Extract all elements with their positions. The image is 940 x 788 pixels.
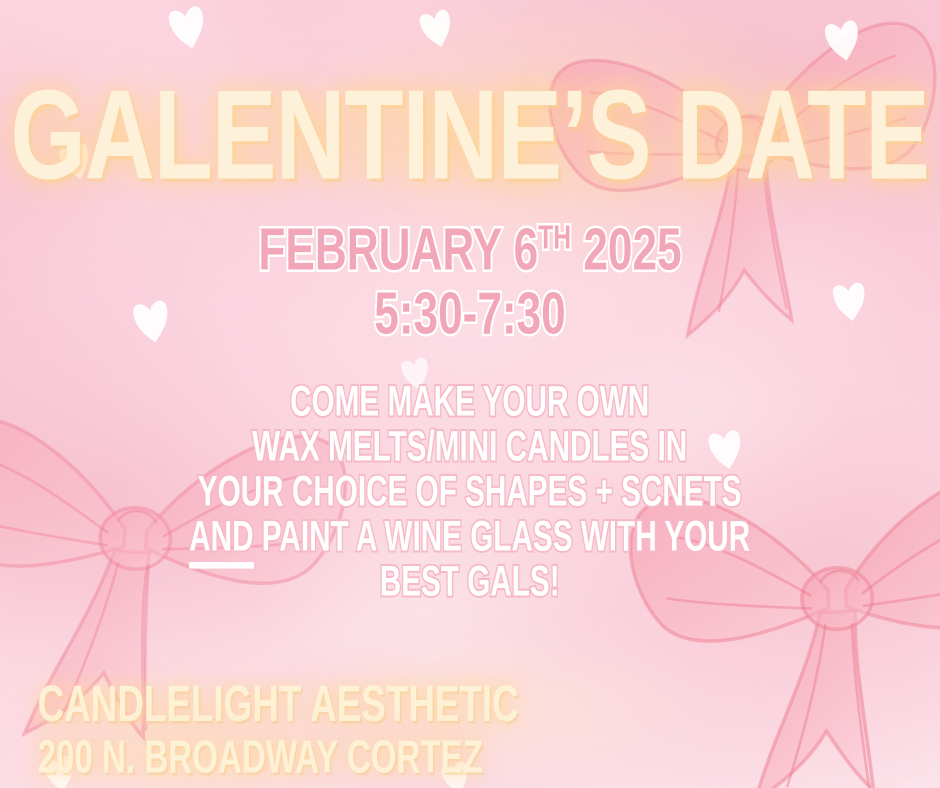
venue-address: 200 N. BROADWAY CORTEZ (38, 734, 903, 780)
venue-block: CANDLELIGHT AESTHETIC 200 N. BROADWAY CO… (0, 690, 940, 780)
description-line-5: BEST GALS! (189, 559, 750, 602)
event-month-day: FEBRUARY 6 (258, 217, 538, 283)
description-line-2: WAX MELTS/MINI CANDLES IN (189, 424, 750, 467)
event-description-block: COME MAKE YOUR OWN WAX MELTS/MINI CANDLE… (158, 379, 781, 604)
description-line-4-rest: PAINT A WINE GLASS WITH YOUR (254, 511, 751, 559)
event-year: 2025 (583, 217, 681, 283)
description-line-3: YOUR CHOICE OF SHAPES + SCNETS (189, 469, 750, 512)
flyer-headline: GALENTINE’S DATE (11, 76, 929, 197)
description-line-4: AND PAINT A WINE GLASS WITH YOUR (189, 514, 750, 557)
event-time: 5:30-7:30 (258, 285, 681, 345)
flyer-content: GALENTINE’S DATE FEBRUARY 6TH 2025 5:30-… (0, 0, 940, 788)
venue-name: CANDLELIGHT AESTHETIC (38, 679, 903, 730)
galentines-date-flyer: GALENTINE’S DATE FEBRUARY 6TH 2025 5:30-… (0, 0, 940, 788)
event-date-block: FEBRUARY 6TH 2025 5:30-7:30 (240, 221, 700, 333)
description-line-1: COME MAKE YOUR OWN (189, 379, 750, 422)
event-date-line: FEBRUARY 6TH 2025 (258, 221, 681, 281)
ordinal-suffix: TH (538, 218, 571, 255)
